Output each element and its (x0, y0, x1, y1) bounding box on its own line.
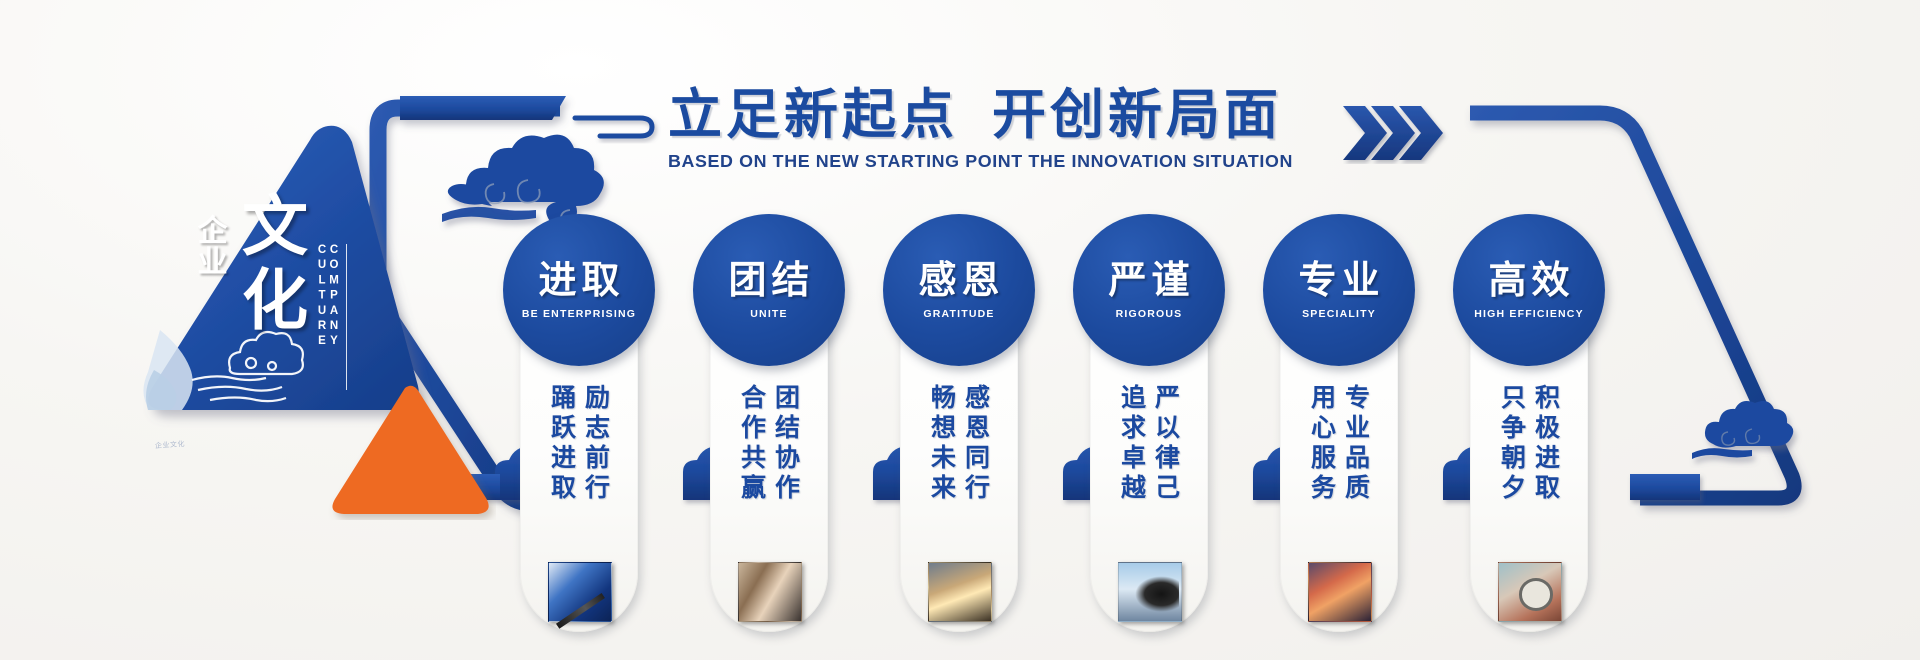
value-pill-6[interactable]: 高效 HIGH EFFICIENCY 积极进取 只争朝夕 (1470, 232, 1588, 632)
pill-1-phrases: 励志前行 踊跃进取 (520, 384, 638, 544)
orange-triangle-accent (326, 380, 496, 520)
headline-block: 立足新起点开创新局面 BASED ON THE NEW STARTING POI… (668, 88, 1282, 172)
culture-wall-stage: 企业 文化 COMPANY CULTURE 企业文化 立足新起点开创新局面 BA… (0, 0, 1920, 660)
pill-3-badge[interactable]: 感恩 GRATITUDE (883, 214, 1035, 366)
pill-1-badge[interactable]: 进取 BE ENTERPRISING (503, 214, 655, 366)
pill-6-photo (1498, 562, 1562, 622)
pill-4-badge[interactable]: 严谨 RIGOROUS (1073, 214, 1225, 366)
headline-cn-right: 开创新局面 (992, 83, 1282, 146)
pill-1-photo (548, 562, 612, 622)
headline-cn-left: 立足新起点 (668, 83, 958, 146)
pill-6-badge[interactable]: 高效 HIGH EFFICIENCY (1453, 214, 1605, 366)
headline-english: BASED ON THE NEW STARTING POINT THE INNO… (668, 151, 1294, 172)
emblem-qiye-text: 企业 (196, 216, 230, 278)
value-pill-2[interactable]: 团结 UNITE 团结协作 合作共赢 (710, 232, 828, 632)
pill-2-photo (738, 562, 802, 622)
pill-3-subtitle: GRATITUDE (923, 308, 994, 320)
pill-4-phrase-right: 严以律己 (1154, 384, 1179, 544)
pill-2-phrase-left: 合作共赢 (740, 384, 765, 544)
pill-1-phrase-left: 踊跃进取 (550, 384, 575, 544)
pill-1-subtitle: BE ENTERPRISING (522, 308, 636, 320)
pill-4-subtitle: RIGOROUS (1116, 308, 1183, 320)
pill-6-title: 高效 (1483, 261, 1574, 299)
pill-2-title: 团结 (723, 261, 814, 299)
value-pill-5[interactable]: 专业 SPECIALITY 专业品质 用心服务 (1280, 232, 1398, 632)
pill-4-phrases: 严以律己 追求卓越 (1090, 384, 1208, 544)
pill-2-phrases: 团结协作 合作共赢 (710, 384, 828, 544)
value-pill-1[interactable]: 进取 BE ENTERPRISING 励志前行 踊跃进取 (520, 232, 638, 632)
pill-5-phrase-left: 用心服务 (1310, 384, 1335, 544)
pill-6-phrase-right: 积极进取 (1534, 384, 1559, 544)
pill-2-phrase-right: 团结协作 (774, 384, 799, 544)
pill-6-phrase-left: 只争朝夕 (1500, 384, 1525, 544)
emblem-english-label: COMPANY CULTURE (316, 244, 347, 390)
pill-3-phrase-right: 感恩同行 (964, 384, 989, 544)
pill-4-photo (1118, 562, 1182, 622)
headline-chinese: 立足新起点开创新局面 (668, 88, 1282, 142)
value-pill-4[interactable]: 严谨 RIGOROUS 严以律己 追求卓越 (1090, 232, 1208, 632)
emblem-wenhua-text: 文化 (236, 190, 314, 338)
emblem-watermark: 企业文化 (155, 439, 186, 451)
pill-4-phrase-left: 追求卓越 (1120, 384, 1145, 544)
pill-1-title: 进取 (533, 261, 624, 299)
pill-3-title: 感恩 (913, 261, 1004, 299)
pill-4-title: 严谨 (1103, 261, 1194, 299)
headline-hook-ornament (575, 118, 652, 136)
pill-6-phrases: 积极进取 只争朝夕 (1470, 384, 1588, 544)
pill-3-photo (928, 562, 992, 622)
pill-5-badge[interactable]: 专业 SPECIALITY (1263, 214, 1415, 366)
pill-5-title: 专业 (1293, 261, 1384, 299)
pill-6-subtitle: HIGH EFFICIENCY (1474, 308, 1584, 320)
pill-5-phrase-right: 专业品质 (1344, 384, 1369, 544)
pill-3-phrases: 感恩同行 畅想未来 (900, 384, 1018, 544)
pill-5-subtitle: SPECIALITY (1302, 308, 1376, 320)
pill-1-phrase-right: 励志前行 (584, 384, 609, 544)
pill-5-phrases: 专业品质 用心服务 (1280, 384, 1398, 544)
chevron-right-icons (1343, 104, 1468, 164)
pill-2-subtitle: UNITE (750, 308, 788, 320)
cloud-icon-bottom-right (1688, 398, 1808, 468)
pill-5-photo (1308, 562, 1372, 622)
pill-2-badge[interactable]: 团结 UNITE (693, 214, 845, 366)
value-pill-3[interactable]: 感恩 GRATITUDE 感恩同行 畅想未来 (900, 232, 1018, 632)
pill-3-phrase-left: 畅想未来 (930, 384, 955, 544)
value-pill-row: 进取 BE ENTERPRISING 励志前行 踊跃进取 团结 UNITE 团结… (520, 232, 1700, 652)
